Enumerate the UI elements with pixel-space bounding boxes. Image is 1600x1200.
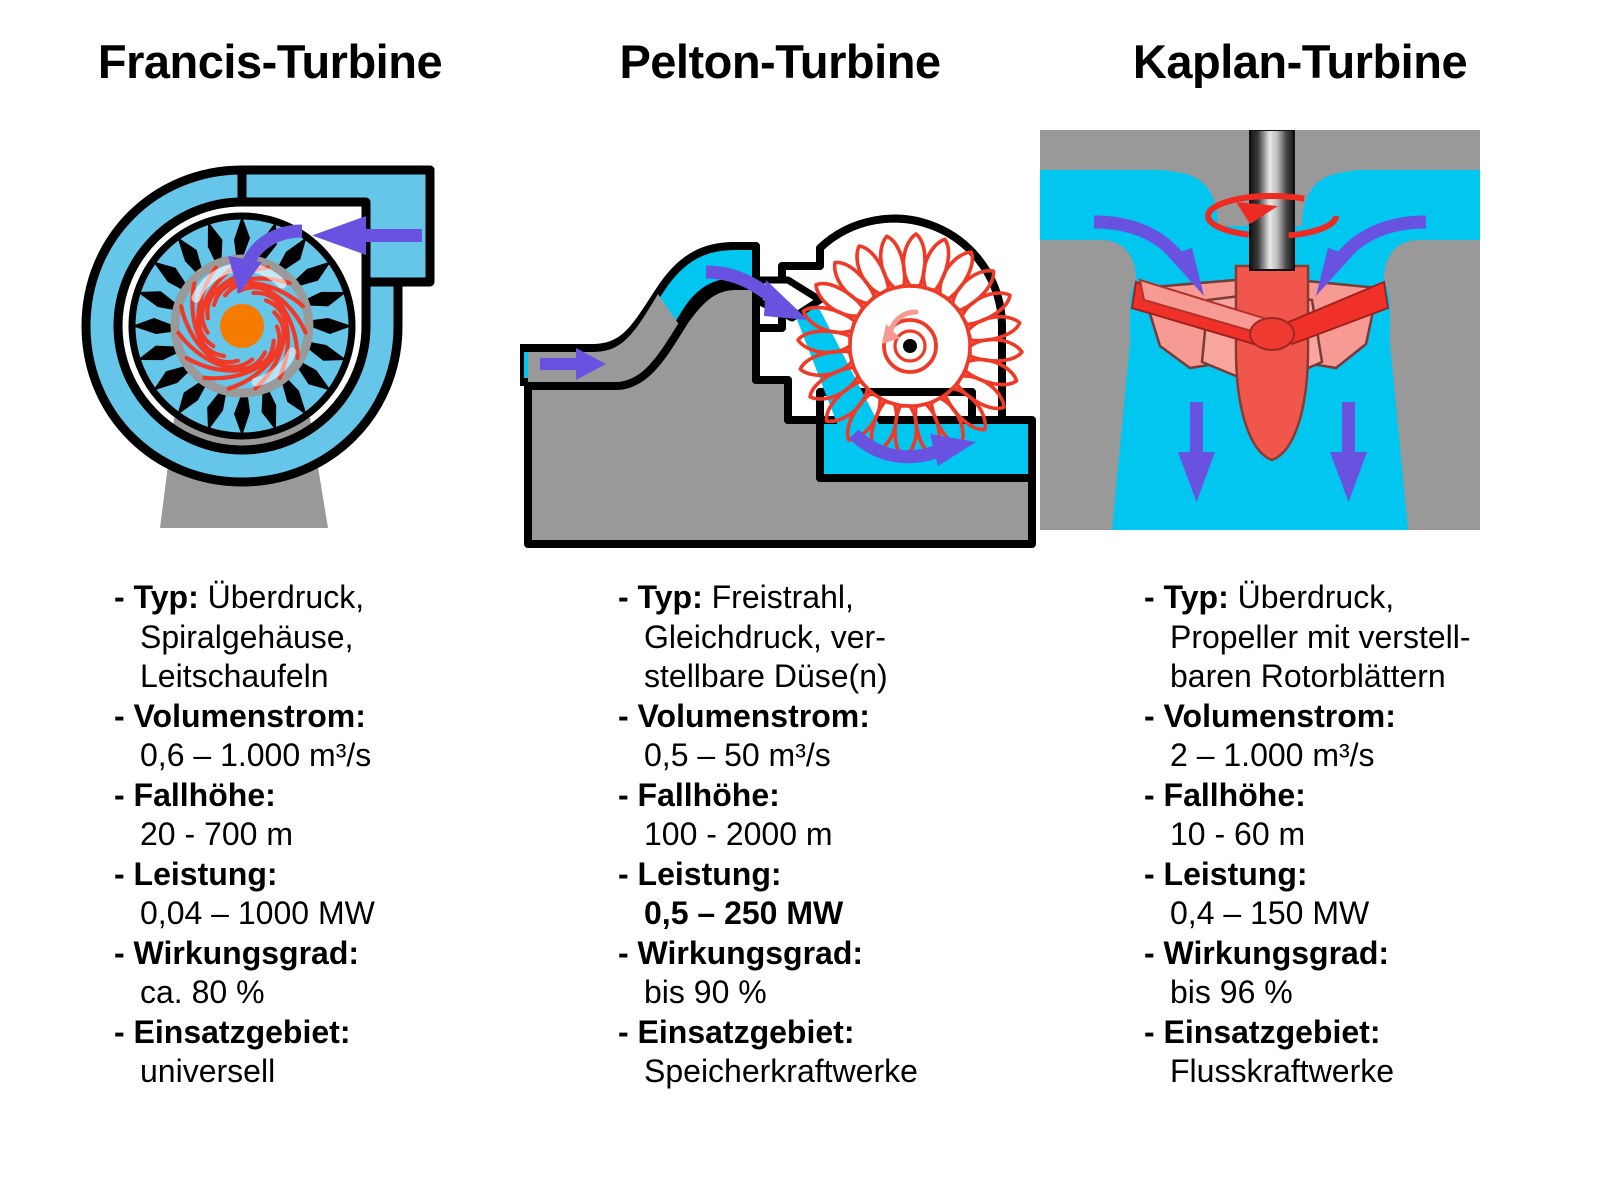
- hub-cone: [1236, 266, 1308, 460]
- spec-key: Fallhöhe:: [134, 777, 276, 813]
- spec-value: Speicherkraftwerke: [644, 1053, 918, 1089]
- spec-cont: Propeller mit verstell-: [1128, 618, 1600, 658]
- spec-key: Typ:: [134, 579, 199, 615]
- spec-value: universell: [140, 1053, 275, 1089]
- shaft: [1250, 130, 1294, 270]
- spec-value: 10 - 60 m: [1170, 816, 1305, 852]
- page-title-pelton: Pelton-Turbine: [520, 38, 1040, 85]
- spec-key: Einsatzgebiet:: [1164, 1014, 1381, 1050]
- spec-list-pelton: - Typ: Freistrahl, Gleichdruck, ver- ste…: [520, 578, 1122, 1092]
- spec-list-kaplan: - Typ: Überdruck, Propeller mit verstell…: [1040, 578, 1600, 1092]
- spec-key: Volumenstrom:: [1164, 698, 1396, 734]
- spec-value: 0,4 – 150 MW: [1170, 895, 1369, 931]
- spec-value: 2 – 1.000 m³/s: [1170, 737, 1375, 773]
- turbine-column-francis: Francis-Turbine: [10, 0, 530, 1200]
- spec-value: bis 96 %: [1170, 974, 1293, 1010]
- spec-key: Leistung:: [1164, 856, 1308, 892]
- spec-key: Typ:: [638, 579, 703, 615]
- pelton-turbine-diagram: [520, 130, 1040, 550]
- spec-value: 0,5 – 250 MW: [644, 895, 843, 931]
- spec-item: - Volumenstrom:: [1128, 697, 1600, 737]
- spec-key: Einsatzgebiet:: [134, 1014, 351, 1050]
- spec-value: Flusskraftwerke: [1170, 1053, 1394, 1089]
- spec-cont: baren Rotorblättern: [1128, 657, 1600, 697]
- turbine-column-kaplan: Kaplan-Turbine: [1040, 0, 1560, 1200]
- spec-value: 0,5 – 50 m³/s: [644, 737, 831, 773]
- spec-value: Überdruck,: [208, 579, 365, 615]
- spec-key: Wirkungsgrad:: [1164, 935, 1390, 971]
- spec-value: Freistrahl,: [712, 579, 854, 615]
- spec-item: - Wirkungsgrad:: [1128, 934, 1600, 974]
- spec-key: Einsatzgebiet:: [638, 1014, 855, 1050]
- spec-key: Fallhöhe:: [638, 777, 780, 813]
- spec-key: Leistung:: [134, 856, 278, 892]
- spec-key: Volumenstrom:: [638, 698, 870, 734]
- spec-item: - Einsatzgebiet:: [1128, 1013, 1600, 1053]
- francis-turbine-diagram: [10, 130, 530, 550]
- spec-key: Wirkungsgrad:: [134, 935, 360, 971]
- page-title-kaplan: Kaplan-Turbine: [1040, 38, 1560, 85]
- spec-value: 0,6 – 1.000 m³/s: [140, 737, 371, 773]
- spec-value: ca. 80 %: [140, 974, 265, 1010]
- spec-value: 0,04 – 1000 MW: [140, 895, 375, 931]
- spec-value: bis 90 %: [644, 974, 767, 1010]
- spec-key: Typ:: [1164, 579, 1229, 615]
- spec-value: Überdruck,: [1238, 579, 1395, 615]
- spec-key: Wirkungsgrad:: [638, 935, 864, 971]
- kaplan-turbine-diagram: [1040, 130, 1560, 550]
- turbine-column-pelton: Pelton-Turbine: [520, 0, 1040, 1200]
- spec-value: 20 - 700 m: [140, 816, 293, 852]
- spec-key: Leistung:: [638, 856, 782, 892]
- spec-key: Fallhöhe:: [1164, 777, 1306, 813]
- spec-key: Volumenstrom:: [134, 698, 366, 734]
- runner-hub: [220, 304, 264, 348]
- spec-item: - Typ: Überdruck,: [1128, 578, 1600, 618]
- spec-item: - Fallhöhe:: [1128, 776, 1600, 816]
- spec-item: - Leistung:: [1128, 855, 1600, 895]
- page-title-francis: Francis-Turbine: [10, 38, 530, 85]
- spec-value: 100 - 2000 m: [644, 816, 833, 852]
